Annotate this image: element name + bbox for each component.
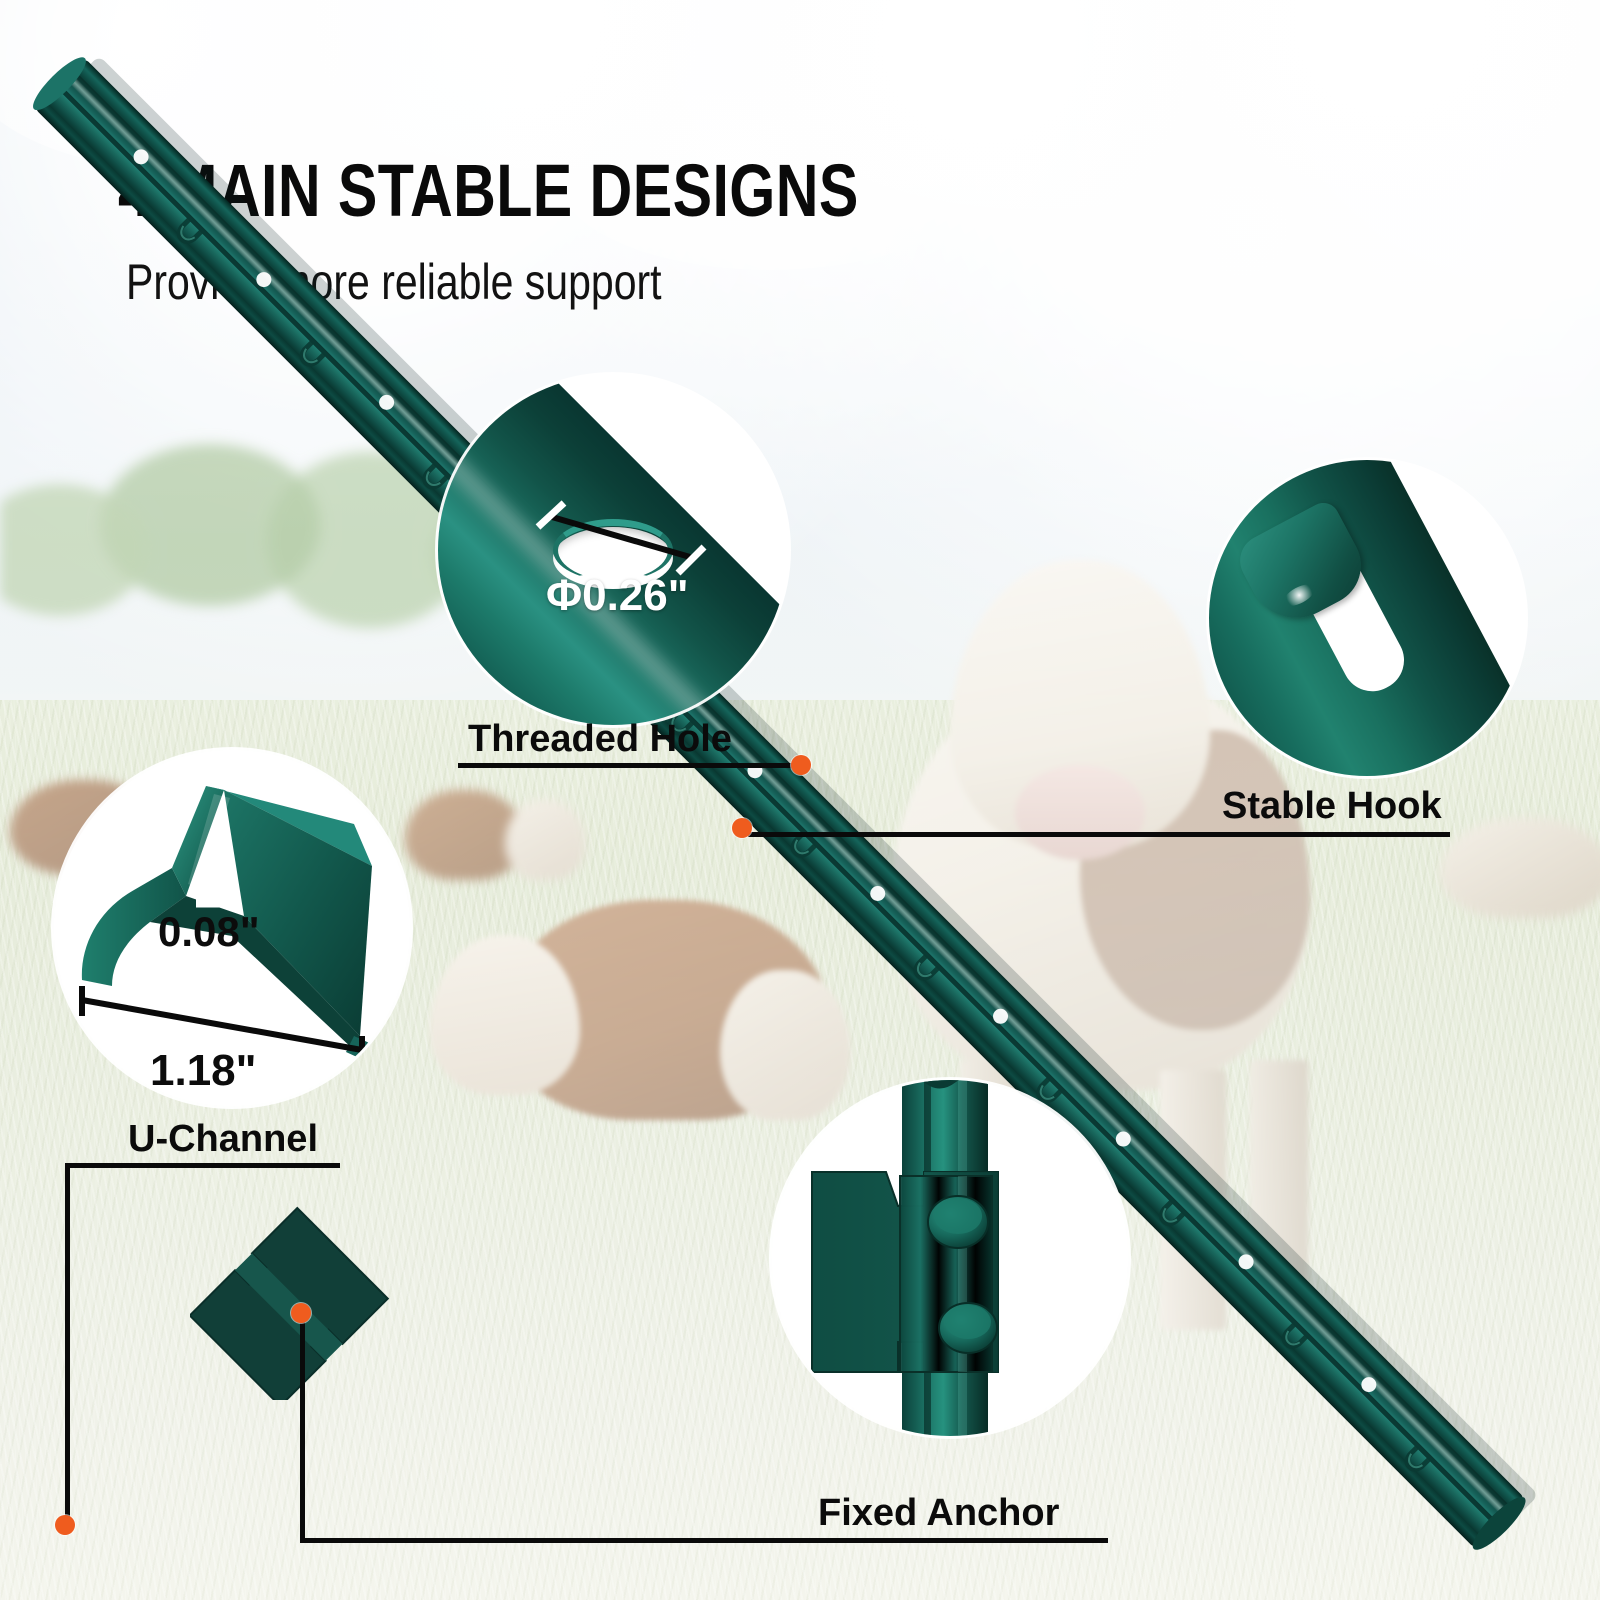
leader-fixed-anchor-horizontal — [300, 1538, 702, 1543]
hook-tab-gloss — [1280, 580, 1318, 610]
leader-fixed-anchor-vertical — [300, 1320, 305, 1538]
threaded-hole-dimension-label: Φ0.26" — [546, 571, 689, 621]
label-threaded-hole: Threaded Hole — [468, 718, 732, 761]
leader-fixed-anchor-underline — [700, 1538, 1108, 1543]
infographic-canvas: 4 MAIN STABLE DESIGNS Provide more relia… — [0, 0, 1600, 1600]
marker-dot-stable-hook[interactable] — [732, 818, 752, 838]
post-anchor-bracket — [190, 1200, 430, 1400]
label-fixed-anchor: Fixed Anchor — [818, 1492, 1059, 1535]
marker-dot-fixed-anchor[interactable] — [291, 1303, 311, 1323]
fixed-anchor-closeup — [772, 1080, 1128, 1436]
leader-stable-hook — [748, 832, 1450, 837]
leader-u-channel-underline — [65, 1163, 340, 1168]
label-stable-hook: Stable Hook — [1222, 785, 1442, 828]
marker-dot-threaded-hole[interactable] — [791, 755, 811, 775]
callout-fixed-anchor — [772, 1080, 1128, 1436]
dimension-thickness-icon — [196, 881, 230, 903]
leader-u-channel-vertical — [65, 1163, 70, 1525]
callout-stable-hook — [1209, 460, 1525, 776]
marker-dot-u-channel[interactable] — [55, 1515, 75, 1535]
leader-threaded-hole-underline — [458, 763, 803, 768]
callout-threaded-hole: Φ0.26" — [438, 375, 788, 725]
u-channel-thickness-label: 0.08" — [158, 908, 260, 956]
callout-u-channel: 0.08" 1.18" — [54, 750, 410, 1106]
u-channel-width-label: 1.18" — [150, 1046, 257, 1096]
label-u-channel: U-Channel — [128, 1118, 318, 1161]
